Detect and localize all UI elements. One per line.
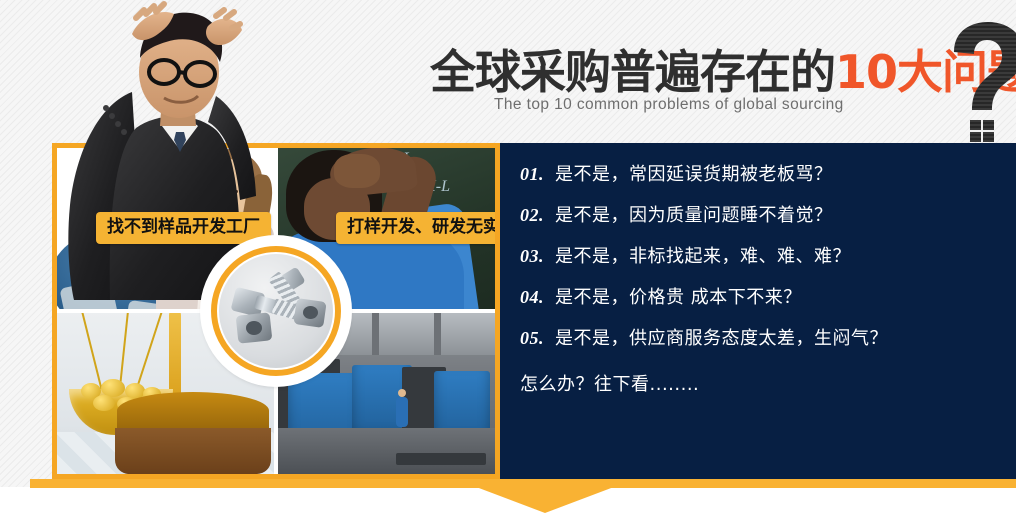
list-item: 05. 是不是，供应商服务态度太差，生闷气？ [520,329,1002,348]
problem-list: 01. 是不是，常因延误货期被老板骂？ 02. 是不是，因为质量问题睡不着觉？ … [520,165,1002,396]
page-title: 全球采购普遍存在的10大问题 [430,36,1016,102]
list-footer-text: 怎么办？往下看........ [520,370,1002,396]
list-item-number: 01. [520,165,544,183]
list-item: 03. 是不是，非标找起来，难、难、难？ [520,247,1002,266]
list-item-text: 是不是，因为质量问题睡不着觉？ [555,207,833,225]
list-item-number: 04. [520,288,544,306]
page-subtitle: The top 10 common problems of global sou… [494,96,844,114]
list-item-text: 是不是，非标找起来，难、难、难？ [555,248,851,266]
tag-no-rnd-strength: 打样开发、研发无实力 [336,212,495,244]
tag-no-sample-factory: 找不到样品开发工厂 [96,212,271,244]
list-item-text: 是不是，供应商服务态度太差，生闷气？ [555,330,888,348]
list-item: 01. 是不是，常因延误货期被老板骂？ [520,165,1002,184]
list-item-number: 02. [520,206,544,224]
list-item-number: 03. [520,247,544,265]
down-arrow-icon [455,479,635,513]
list-item: 02. 是不是，因为质量问题睡不着觉？ [520,206,1002,225]
circle-bolts-photo [204,239,348,383]
banner-root: 全球采购普遍存在的10大问题 The top 10 common problem… [0,0,1016,531]
header: 全球采购普遍存在的10大问题 The top 10 common problem… [430,36,1016,141]
list-item-number: 05. [520,329,544,347]
problem-list-panel: 01. 是不是，常因延误货期被老板骂？ 02. 是不是，因为质量问题睡不着觉？ … [500,143,1016,479]
list-item: 04. 是不是，价格贵 成本下不来？ [520,288,1002,307]
bolts-image [219,254,333,368]
page-title-main: 全球采购普遍存在的 [430,45,835,99]
list-item-text: 是不是，常因延误货期被老板骂？ [555,166,833,184]
list-item-text: 是不是，价格贵 成本下不来？ [555,289,802,307]
question-mark-icon [944,22,1016,142]
